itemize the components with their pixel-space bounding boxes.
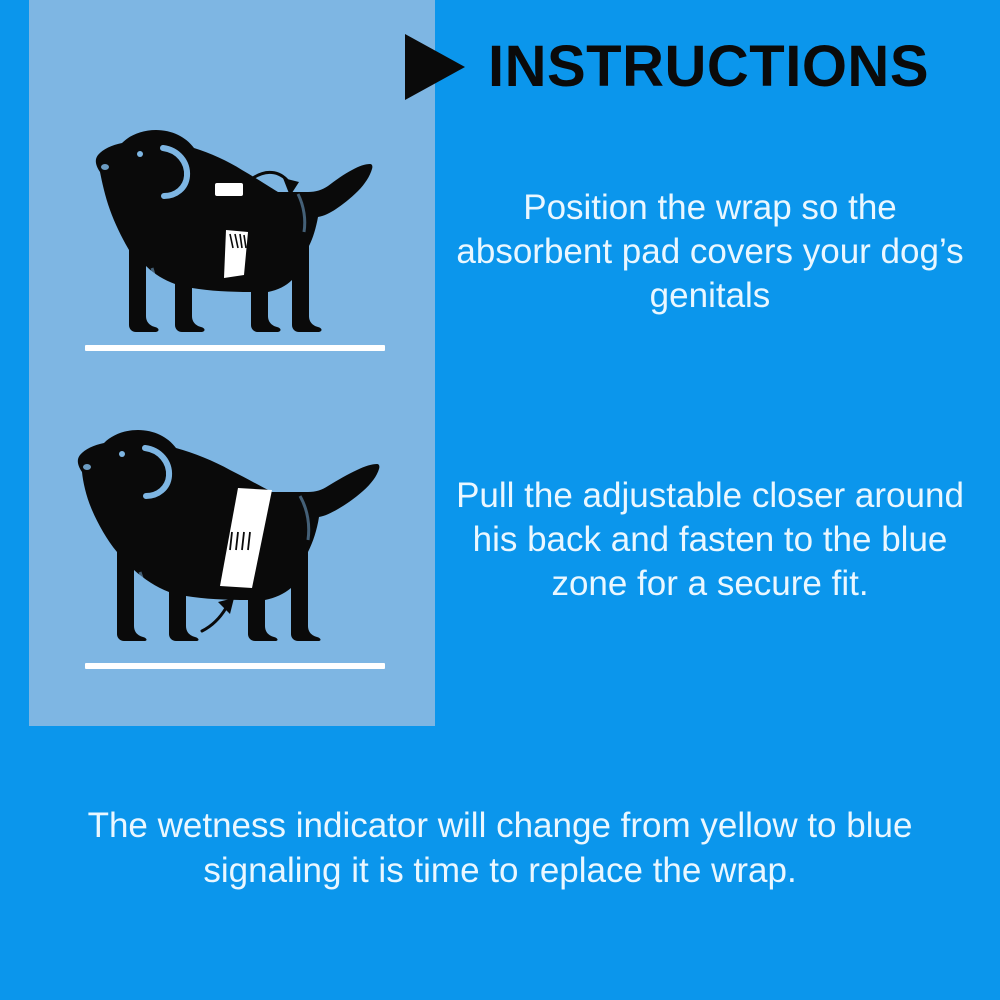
dog-foreleg-line (140, 572, 147, 624)
step-1-text: Position the wrap so the absorbent pad c… (452, 186, 968, 318)
play-triangle-icon (405, 34, 465, 100)
dog-eye (119, 451, 125, 457)
dog-nose-highlight (101, 164, 109, 170)
header: INSTRUCTIONS (405, 26, 965, 108)
dog-wrap-unfastened-illustration (60, 120, 400, 365)
ground-line (85, 663, 385, 669)
wrap-top-tab (215, 183, 243, 196)
dog-eye (137, 151, 143, 157)
instructions-infographic: INSTRUCTIONS (0, 0, 1000, 1000)
step-2-text: Pull the adjustable closer around his ba… (452, 474, 968, 606)
ground-line (85, 345, 385, 351)
footer-note: The wetness indicator will change from y… (40, 803, 960, 893)
dog-nose-highlight (83, 464, 91, 470)
dog-wrap-fastened-illustration (60, 420, 400, 682)
page-title: INSTRUCTIONS (488, 38, 929, 96)
curved-arrow-up-icon (202, 598, 234, 631)
